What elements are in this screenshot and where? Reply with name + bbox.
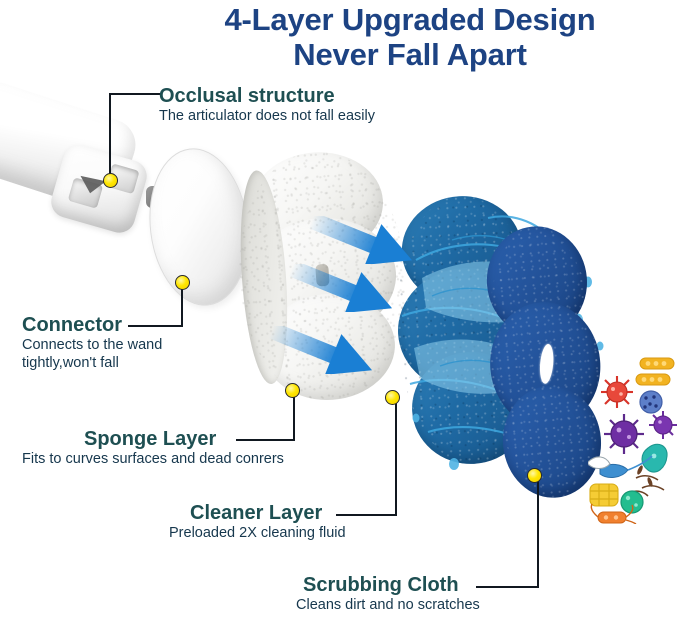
germ-brown-rods bbox=[632, 476, 664, 496]
germ-purple-virus-large bbox=[604, 414, 644, 454]
germ-teal-amoeba bbox=[642, 444, 667, 472]
leader-line-cloth bbox=[472, 475, 546, 595]
marker-dot-connector bbox=[175, 275, 190, 290]
callout-scrubbing-cloth: Scrubbing Cloth Cleans dirt and no scrat… bbox=[303, 574, 480, 615]
callout-subtext-connector-line1: Connects to the wand bbox=[22, 337, 162, 355]
infographic-canvas: 4-Layer Upgraded Design Never Fall Apart bbox=[0, 0, 679, 626]
callout-heading-sponge: Sponge Layer bbox=[84, 428, 284, 451]
marker-dot-occlusal bbox=[103, 173, 118, 188]
sponge-layer bbox=[242, 147, 409, 405]
germ-red-virus bbox=[601, 376, 633, 408]
callout-subtext-cloth: Cleans dirt and no scratches bbox=[296, 597, 480, 615]
callout-subtext-sponge: Fits to curves surfaces and dead conrers bbox=[22, 451, 284, 469]
callout-heading-occlusal: Occlusal structure bbox=[159, 85, 375, 108]
page-title: 4-Layer Upgraded Design Never Fall Apart bbox=[150, 2, 670, 72]
germ-yellow-rod-1 bbox=[640, 358, 674, 369]
callout-heading-connector: Connector bbox=[22, 314, 162, 337]
sponge-center-nub bbox=[315, 264, 330, 287]
germ-purple-virus-small bbox=[649, 411, 677, 439]
callout-heading-cloth: Scrubbing Cloth bbox=[303, 574, 480, 597]
germ-brown-bacilli bbox=[636, 465, 654, 488]
callout-connector: Connector Connects to the wand tightly,w… bbox=[22, 314, 162, 372]
germ-orange-rod bbox=[591, 504, 636, 524]
germ-yellow-rod-2 bbox=[636, 374, 670, 385]
callout-heading-cleaner: Cleaner Layer bbox=[190, 502, 346, 525]
callout-subtext-cleaner: Preloaded 2X cleaning fluid bbox=[169, 525, 346, 543]
callout-subtext-occlusal: The articulator does not fall easily bbox=[159, 108, 375, 126]
callout-sponge-layer: Sponge Layer Fits to curves surfaces and… bbox=[84, 428, 284, 469]
callout-occlusal-structure: Occlusal structure The articulator does … bbox=[159, 85, 375, 126]
title-line-2: Never Fall Apart bbox=[150, 37, 670, 72]
germ-green-sphere bbox=[621, 491, 643, 513]
germ-blue-sphere bbox=[640, 391, 662, 413]
title-line-1: 4-Layer Upgraded Design bbox=[150, 2, 670, 37]
callout-subtext-connector-line2: tightly,won't fall bbox=[22, 355, 162, 373]
marker-dot-cleaner bbox=[385, 390, 400, 405]
marker-dot-sponge bbox=[285, 383, 300, 398]
scrubbing-cloth bbox=[478, 222, 611, 503]
callout-cleaner-layer: Cleaner Layer Preloaded 2X cleaning flui… bbox=[190, 502, 346, 543]
marker-dot-cloth bbox=[527, 468, 542, 483]
